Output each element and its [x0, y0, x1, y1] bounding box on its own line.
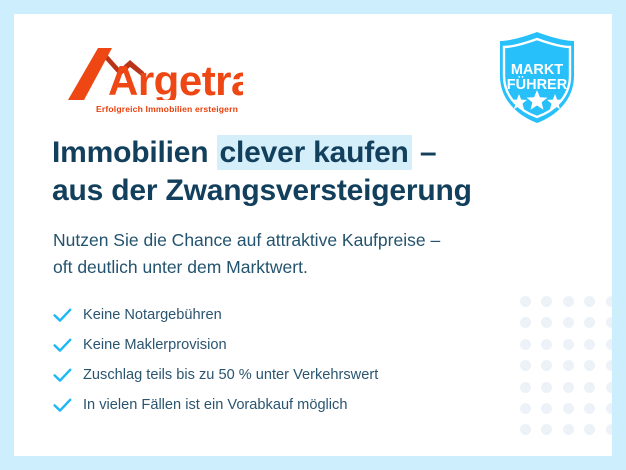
headline-highlight: clever kaufen: [217, 135, 412, 170]
subheadline: Nutzen Sie die Chance auf attraktive Kau…: [53, 227, 533, 281]
decorative-dot: [541, 339, 552, 350]
decorative-dot: [606, 296, 612, 307]
decorative-dot: [520, 360, 531, 371]
banner-card: Argetra Erfolgreich Immobilien ersteiger…: [14, 14, 612, 456]
shield-badge-icon: MARKT FÜHRER: [494, 30, 580, 126]
list-item: Zuschlag teils bis zu 50 % unter Verkehr…: [53, 360, 493, 390]
subheadline-line2: oft deutlich unter dem Marktwert.: [53, 257, 308, 277]
benefits-list: Keine NotargebührenKeine Maklerprovision…: [53, 300, 493, 420]
decorative-dot: [520, 317, 531, 328]
decorative-dot: [584, 424, 595, 435]
list-item-label: Zuschlag teils bis zu 50 % unter Verkehr…: [83, 368, 378, 383]
decorative-dot: [520, 339, 531, 350]
badge-line2: FÜHRER: [507, 76, 568, 93]
decorative-dot: [606, 424, 612, 435]
decorative-dot: [541, 403, 552, 414]
decorative-dot: [563, 382, 574, 393]
decorative-dot: [584, 317, 595, 328]
decorative-dot: [541, 296, 552, 307]
advertisement-banner[interactable]: Argetra Erfolgreich Immobilien ersteiger…: [0, 0, 626, 470]
check-icon: [53, 398, 83, 413]
decorative-dot: [584, 403, 595, 414]
headline-part2: –: [412, 136, 437, 169]
list-item-label: Keine Notargebühren: [83, 308, 222, 323]
decorative-dot: [563, 317, 574, 328]
dot-pattern-decoration: [502, 296, 612, 456]
market-leader-badge: MARKT FÜHRER: [494, 30, 580, 126]
list-item-label: Keine Maklerprovision: [83, 338, 227, 353]
argetra-logo-icon: Argetra: [58, 42, 243, 100]
badge-line1: MARKT: [511, 62, 563, 78]
decorative-dot: [520, 424, 531, 435]
decorative-dot: [584, 382, 595, 393]
decorative-dot: [606, 360, 612, 371]
decorative-dot: [520, 403, 531, 414]
check-icon: [53, 338, 83, 353]
headline-part1: Immobilien: [52, 136, 217, 169]
decorative-dot: [520, 296, 531, 307]
decorative-dot: [541, 360, 552, 371]
page-title: Immobilien clever kaufen – aus der Zwang…: [52, 134, 522, 211]
decorative-dot: [584, 360, 595, 371]
decorative-dot: [606, 382, 612, 393]
list-item: Keine Notargebühren: [53, 300, 493, 330]
decorative-dot: [541, 317, 552, 328]
decorative-dot: [563, 360, 574, 371]
decorative-dot: [606, 339, 612, 350]
decorative-dot: [541, 382, 552, 393]
decorative-dot: [541, 424, 552, 435]
decorative-dot: [606, 317, 612, 328]
list-item: Keine Maklerprovision: [53, 330, 493, 360]
logo-wordmark-row: Argetra: [58, 42, 258, 100]
check-icon: [53, 308, 83, 323]
check-icon: [53, 368, 83, 383]
decorative-dot: [563, 339, 574, 350]
decorative-dot: [563, 403, 574, 414]
decorative-dot: [520, 382, 531, 393]
decorative-dot: [584, 296, 595, 307]
decorative-dot: [606, 403, 612, 414]
headline-line2: aus der Zwangsversteigerung: [52, 174, 472, 207]
decorative-dot: [563, 424, 574, 435]
list-item: In vielen Fällen ist ein Vorabkauf mögli…: [53, 390, 493, 420]
decorative-dot: [584, 339, 595, 350]
svg-text:Argetra: Argetra: [108, 57, 243, 100]
decorative-dot: [563, 296, 574, 307]
argetra-logo[interactable]: Argetra Erfolgreich Immobilien ersteiger…: [58, 42, 258, 100]
list-item-label: In vielen Fällen ist ein Vorabkauf mögli…: [83, 398, 347, 413]
logo-tagline: Erfolgreich Immobilien ersteigern: [96, 104, 238, 114]
subheadline-line1: Nutzen Sie die Chance auf attraktive Kau…: [53, 230, 440, 250]
